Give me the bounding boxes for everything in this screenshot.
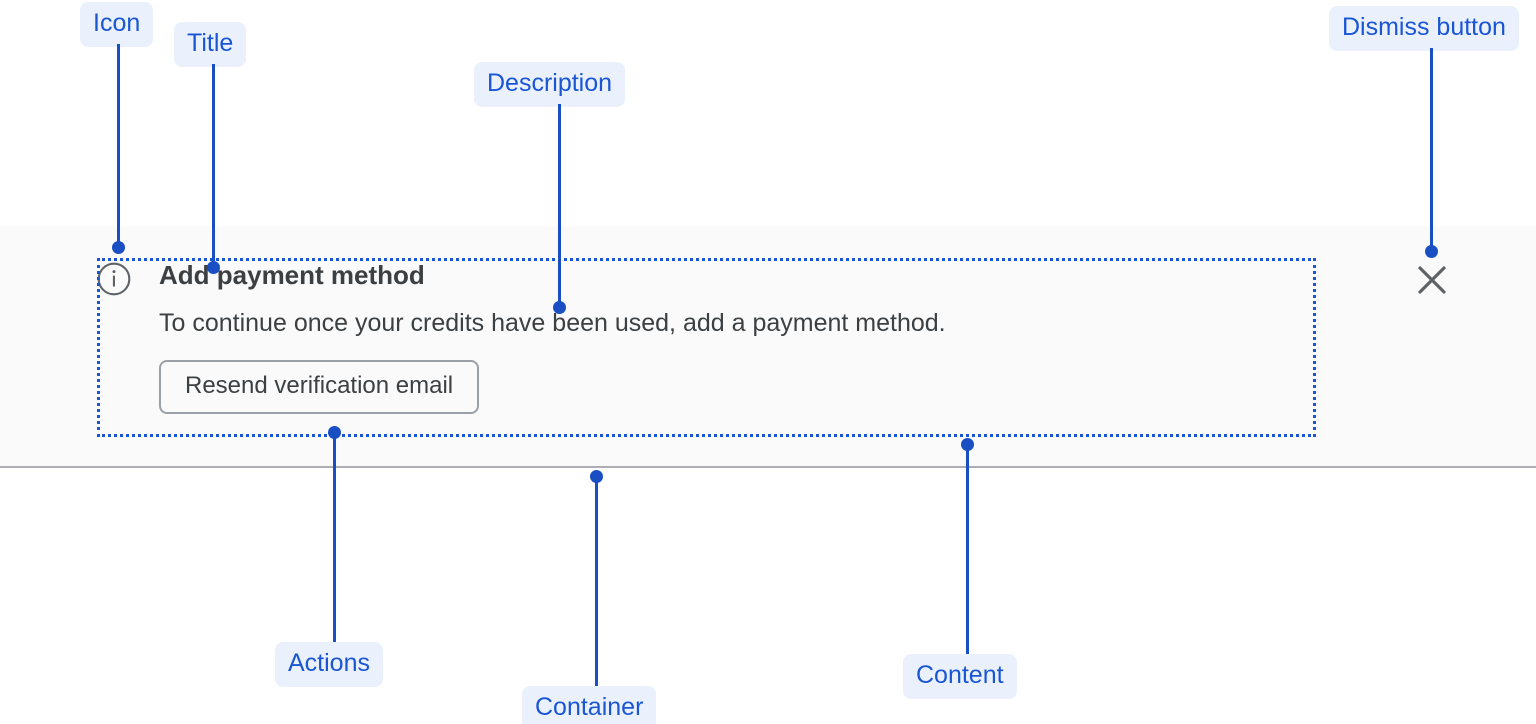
annotation-label-icon: Icon: [80, 2, 153, 47]
leader-dot-description: [553, 301, 566, 314]
leader-line-title: [212, 64, 215, 264]
banner-content: Add payment method To continue once your…: [159, 258, 1316, 414]
leader-dot-content: [961, 438, 974, 451]
annotation-label-actions: Actions: [275, 642, 383, 687]
annotated-banner-anatomy: Add payment method To continue once your…: [0, 0, 1536, 724]
leader-line-actions: [333, 434, 336, 642]
annotation-label-dismiss: Dismiss button: [1329, 6, 1519, 51]
annotation-label-container: Container: [522, 686, 656, 724]
banner-actions: Resend verification email: [159, 360, 1316, 414]
annotation-label-title: Title: [174, 22, 246, 67]
leader-line-content: [966, 446, 969, 654]
banner-title: Add payment method: [159, 258, 1316, 292]
banner-inner-layout: Add payment method To continue once your…: [97, 258, 1316, 436]
leader-dot-title: [207, 261, 220, 274]
banner-container: Add payment method To continue once your…: [0, 226, 1536, 468]
info-circle-icon: [97, 262, 131, 296]
leader-dot-actions: [328, 426, 341, 439]
leader-line-dismiss: [1430, 48, 1433, 252]
leader-line-description: [558, 104, 561, 308]
leader-dot-dismiss: [1425, 245, 1438, 258]
dismiss-button[interactable]: [1412, 260, 1452, 300]
annotation-label-description: Description: [474, 62, 625, 107]
resend-verification-email-button[interactable]: Resend verification email: [159, 360, 479, 414]
leader-line-icon: [117, 44, 120, 248]
banner-description: To continue once your credits have been …: [159, 306, 1316, 340]
leader-dot-icon: [112, 241, 125, 254]
annotation-label-content: Content: [903, 654, 1017, 699]
close-icon: [1412, 260, 1452, 300]
leader-line-container: [595, 478, 598, 686]
leader-dot-container: [590, 470, 603, 483]
